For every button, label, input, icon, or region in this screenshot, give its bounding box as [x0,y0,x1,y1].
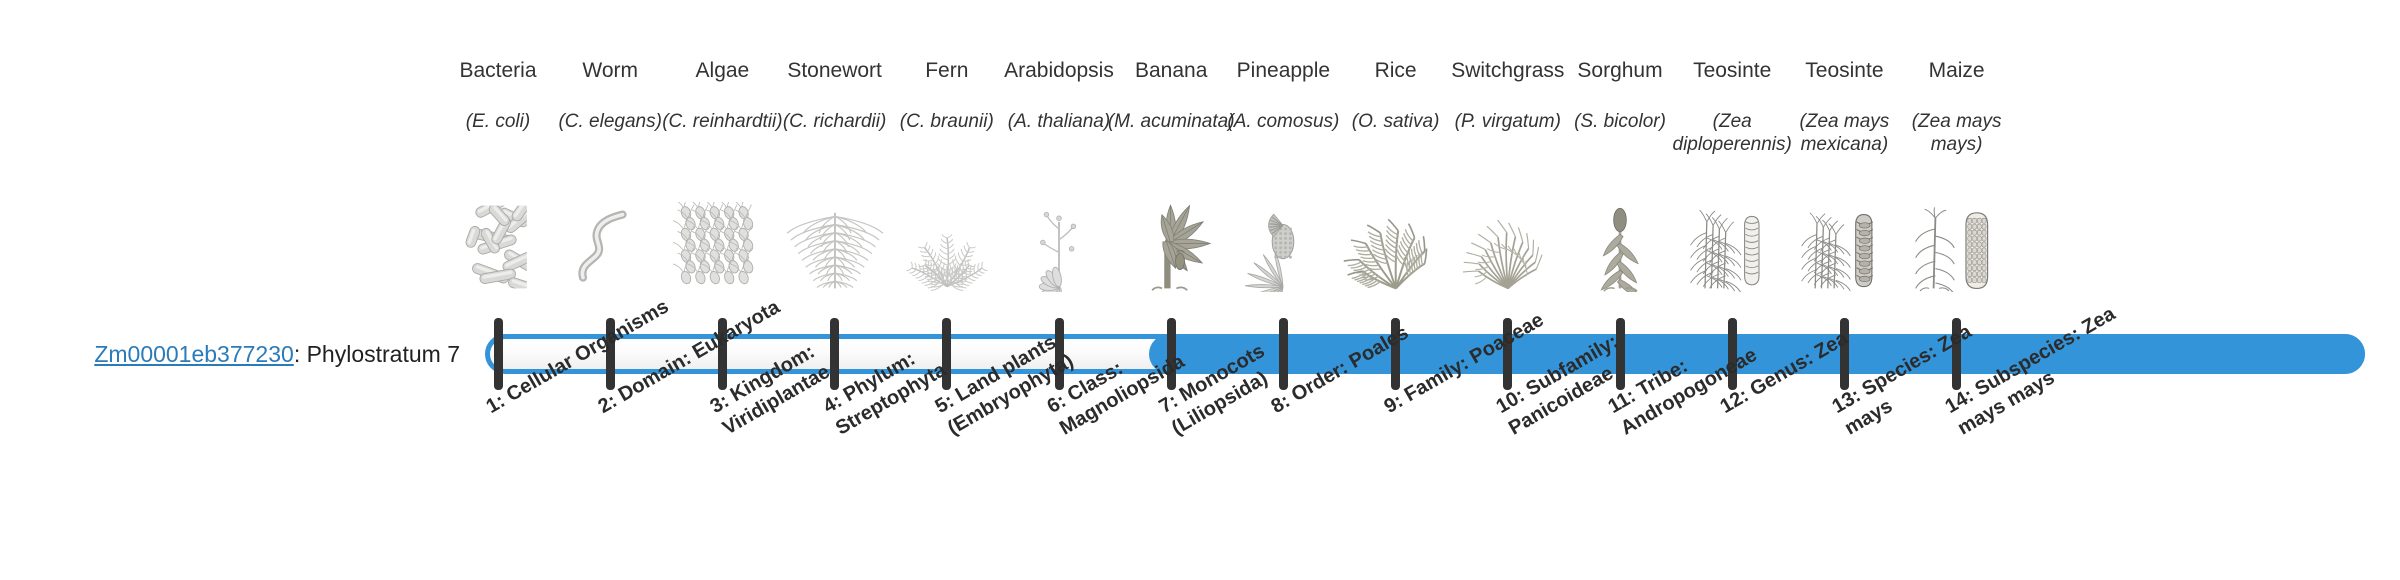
bacteria-illustration [442,202,554,292]
scientific-name-text: (P. virgatum) [1455,111,1561,132]
maize-illustration [1901,202,2013,292]
organism-column-maize-14: Maize(Zea mays mays) [1901,0,2013,310]
scientific-name-text: (C. braunii) [900,111,994,132]
gene-phylostratum-label: Zm00001eb377230: Phylostratum 7 [40,341,460,368]
teosinte-diploperennis-illustration [1676,202,1788,292]
organism-column-stonewort-4: Stonewort(C. richardii) [779,0,891,310]
organism-column-bacteria-1: Bacteria(E. coli) [442,0,554,310]
scientific-name-text: (C. richardii) [783,111,886,132]
organism-column-rice-9: Rice(O. sativa) [1340,0,1452,310]
scientific-name-text: (O. sativa) [1352,111,1440,132]
organism-column-teosinte-12: Teosinte(Zea diploperennis) [1676,0,1788,310]
pineapple-illustration [1227,202,1339,292]
scientific-name-text: (Zea diploperennis) [1673,111,1792,155]
stonewort-illustration [779,202,891,292]
scientific-name-text: (S. bicolor) [1574,111,1666,132]
scientific-name-text: (Zea mays mays) [1912,111,2002,155]
banana-illustration [1115,202,1227,292]
rank-number: 8: [1268,390,1294,418]
organism-column-teosinte-13: Teosinte(Zea mays mexicana) [1788,0,1900,310]
scientific-name-text: (C. elegans) [558,111,662,132]
organism-scientific-name: (Zea mays mays) [1889,110,2025,156]
gene-label-separator: : [294,341,307,367]
tick-mark-1 [494,318,503,390]
scientific-name-text: (E. coli) [466,111,530,132]
rice-illustration [1340,202,1452,292]
organism-column-sorghum-11: Sorghum(S. bicolor) [1564,0,1676,310]
arabidopsis-illustration [1003,202,1115,292]
organism-column-fern-5: Fern(C. braunii) [891,0,1003,310]
organism-column-algae-3: Algae(C. reinhardtii) [666,0,778,310]
worm-illustration [554,202,666,292]
rank-number: 2: [595,390,621,418]
organism-common-name: Maize [1887,58,2027,83]
algae-illustration [666,202,778,292]
organism-column-switchgrass-10: Switchgrass(P. virgatum) [1452,0,1564,310]
scientific-name-text: (Zea mays mexicana) [1800,111,1890,155]
rank-number: 1: [483,390,509,418]
fern-illustration [891,202,1003,292]
rank-number: 9: [1380,390,1406,418]
organism-column-banana-7: Banana(M. acuminata) [1115,0,1227,310]
organism-column-worm-2: Worm(C. elegans) [554,0,666,310]
switchgrass-illustration [1452,202,1564,292]
phylostratum-value-label: Phylostratum 7 [307,341,460,367]
scientific-name-text: (C. reinhardtii) [662,111,782,132]
sorghum-illustration [1564,202,1676,292]
organism-column-arabidopsis-6: Arabidopsis(A. thaliana) [1003,0,1115,310]
scientific-name-text: (A. thaliana) [1008,111,1110,132]
phylostratum-timeline: Zm00001eb377230: Phylostratum 7 Bacteria… [0,0,2400,580]
rank-number: 12: [1717,384,1753,418]
teosinte-mexicana-illustration [1788,202,1900,292]
scientific-name-text: (A. comosus) [1227,111,1339,132]
organism-column-pineapple-8: Pineapple(A. comosus) [1227,0,1339,310]
gene-id-link[interactable]: Zm00001eb377230 [94,341,294,367]
